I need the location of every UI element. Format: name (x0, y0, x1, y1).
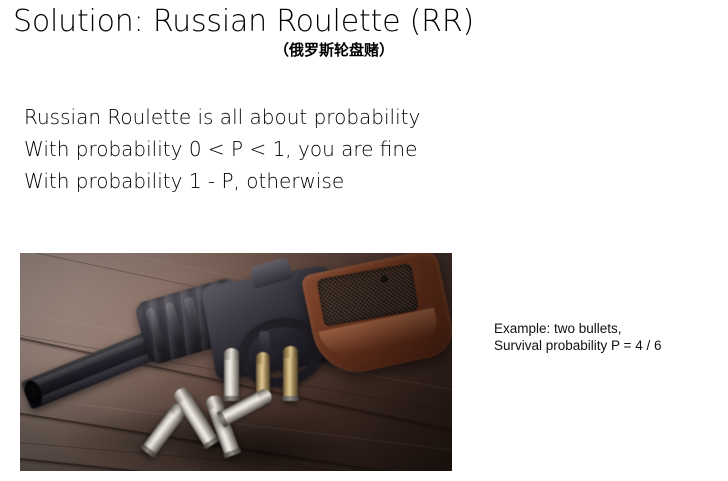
caption-line-1: Example: two bullets, (494, 320, 661, 337)
bullet-tip (224, 348, 239, 360)
body-line-2: With probability 0 < P < 1, you are fine (24, 133, 494, 165)
body-line-1: Russian Roulette is all about probabilit… (24, 101, 494, 133)
hammer (249, 257, 294, 289)
cylinder-flute (164, 302, 185, 349)
body-line-3: With probability 1 - P, otherwise (24, 165, 494, 197)
revolver-photo (20, 253, 452, 471)
bullet-tip (256, 352, 270, 364)
photo-inner (20, 253, 452, 471)
cylinder-flute (183, 296, 204, 343)
bullet-rim (282, 396, 299, 401)
bullet-standing (283, 355, 298, 401)
page-title: Solution: Russian Roulette (RR) (13, 4, 474, 39)
cylinder-flute (145, 307, 166, 354)
bullet-rim (223, 396, 240, 401)
body-text-block: Russian Roulette is all about probabilit… (24, 101, 494, 197)
caption-line-2: Survival probability P = 4 / 6 (494, 337, 661, 354)
page-subtitle: （俄罗斯轮盘赌） (0, 39, 728, 60)
example-caption: Example: two bullets, Survival probabili… (494, 320, 661, 354)
bullet-standing (224, 357, 239, 401)
bullet-tip (283, 346, 298, 358)
